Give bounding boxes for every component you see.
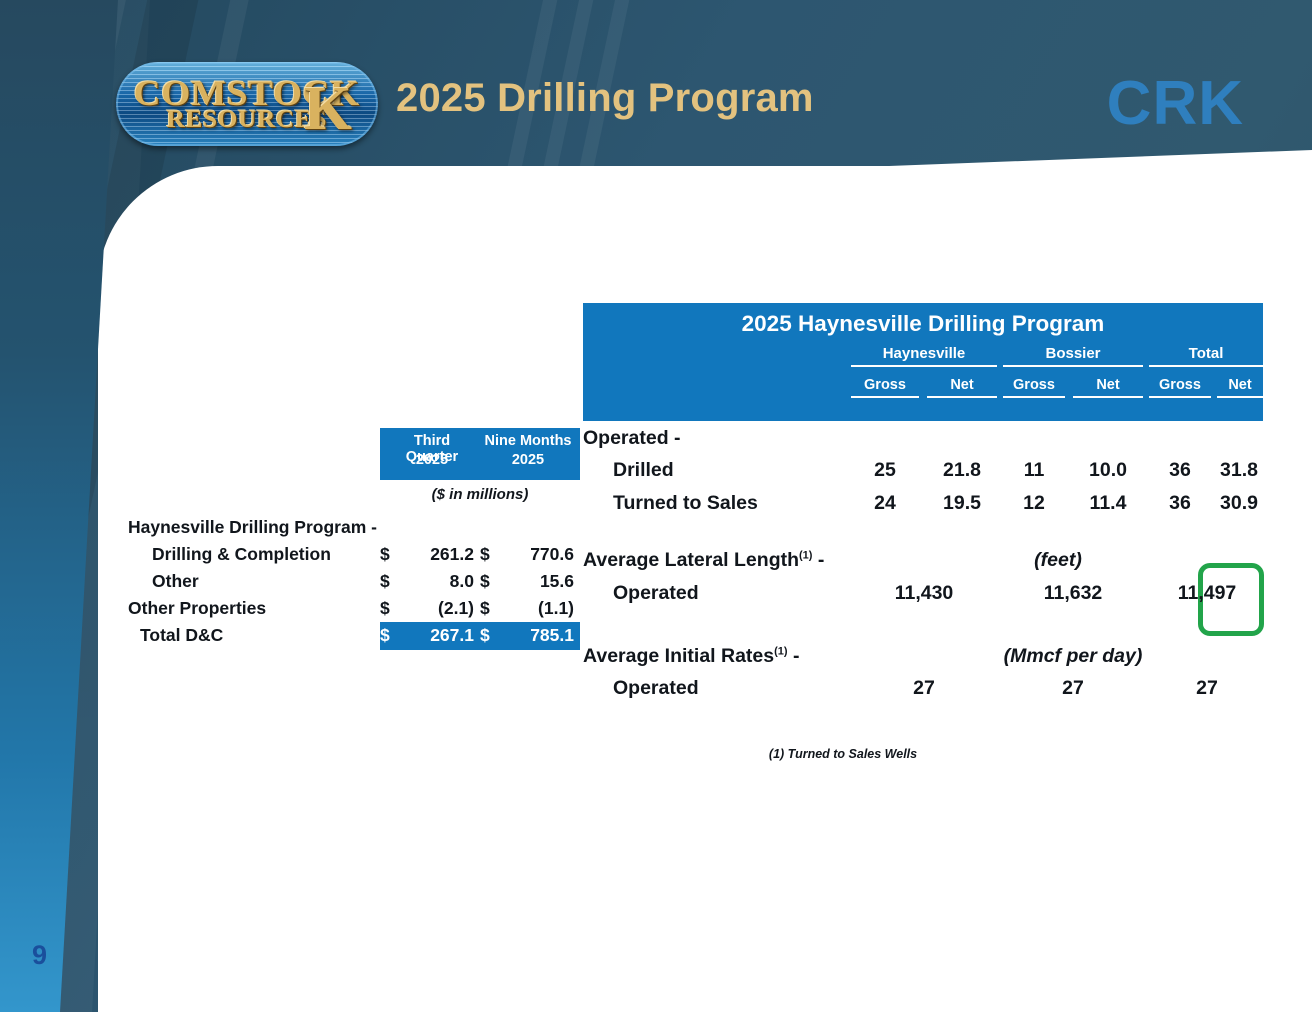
section-lateral-length-text: Average Lateral Length	[583, 549, 799, 571]
drill-col-bossier-gross: Gross	[1003, 377, 1065, 398]
footnote-marker: (1)	[774, 646, 787, 658]
table-row: Turned to Sales 24 19.5 12 11.4 36 30.9	[583, 492, 1263, 524]
table-row-total: Total D&C $ 267.1 $ 785.1	[128, 622, 580, 649]
drill-cell-hay-gross: 25	[851, 459, 919, 482]
lateral-length-haynesville: 11,430	[851, 582, 997, 605]
fin-row-label: Other	[128, 571, 380, 592]
drill-cell-total-net: 31.8	[1213, 459, 1265, 482]
drill-cell-hay-gross: 24	[851, 492, 919, 515]
fin-row-label: Haynesville Drilling Program -	[128, 517, 380, 538]
fin-units-label: ($ in millions)	[380, 486, 580, 503]
fin-table-header-band: Third Quarter Nine Months 2025 2025	[380, 428, 580, 480]
drill-cell-bos-net: 10.0	[1073, 459, 1143, 482]
fin-row-currency: $	[380, 625, 406, 646]
fin-row-ytd: $ 770.6	[480, 544, 580, 565]
drill-group-header-row: Haynesville Bossier Total	[583, 345, 1263, 371]
table-row: Other Properties $ (2.1) $ (1.1)	[128, 595, 580, 622]
fin-row-q3: $ 261.2	[380, 544, 480, 565]
drill-col-haynesville-net: Net	[927, 377, 997, 398]
drill-cell-total-gross: 36	[1149, 492, 1211, 515]
table-row: Haynesville Drilling Program -	[128, 514, 580, 541]
drill-col-total-net: Net	[1217, 377, 1263, 398]
lateral-length-units: (feet)	[973, 549, 1143, 572]
page-title: 2025 Drilling Program	[396, 76, 814, 121]
drill-cell-hay-net: 19.5	[927, 492, 997, 515]
fin-row-ytd: $ 785.1	[480, 625, 580, 646]
initial-rate-bossier: 27	[1003, 677, 1143, 700]
logo-k-letter: K	[304, 78, 352, 140]
drill-row-label: Operated	[613, 582, 699, 605]
fin-row-label: Drilling & Completion	[128, 544, 380, 565]
fin-row-q3: $ 267.1	[380, 625, 480, 646]
table-row: Operated 11,430 11,632 11,497	[583, 582, 1263, 614]
fin-row-q3: $ (2.1)	[380, 598, 480, 619]
drill-cell-bos-net: 11.4	[1073, 492, 1143, 515]
section-lateral-length-suffix: -	[812, 549, 824, 571]
drill-subheader-row: Gross Net Gross Net Gross Net	[583, 377, 1263, 405]
section-operated-title: Operated -	[583, 427, 681, 450]
drill-col-bossier-net: Net	[1073, 377, 1143, 398]
fin-row-currency: $	[380, 598, 406, 619]
fin-row-value: 8.0	[406, 571, 480, 592]
drill-row-label: Drilled	[613, 459, 674, 482]
initial-rates-units: (Mmcf per day)	[953, 645, 1193, 668]
drill-group-total: Total	[1149, 345, 1263, 367]
fin-header-row-2: 2025 2025	[380, 452, 580, 468]
fin-row-label: Total D&C	[128, 625, 380, 646]
drill-row-label: Turned to Sales	[613, 492, 758, 515]
lateral-length-bossier: 11,632	[1003, 582, 1143, 605]
section-lateral-length-title: Average Lateral Length(1) -	[583, 549, 824, 572]
fin-row-value: 261.2	[406, 544, 480, 565]
fin-row-currency: $	[380, 544, 406, 565]
fin-row-value: 267.1	[406, 625, 480, 646]
section-initial-rates-suffix: -	[788, 645, 800, 667]
comstock-logo: COMSTOCK RESOURCES K	[116, 62, 378, 146]
table-footnote: (1) Turned to Sales Wells	[503, 747, 1183, 761]
slide: COMSTOCK RESOURCES K 2025 Drilling Progr…	[0, 0, 1312, 1012]
fin-row-value: (2.1)	[406, 598, 480, 619]
drill-cell-total-gross: 36	[1149, 459, 1211, 482]
drill-group-haynesville: Haynesville	[851, 345, 997, 367]
fin-header-col1-line2: 2025	[386, 452, 478, 468]
fin-row-currency: $	[480, 544, 506, 565]
footnote-marker: (1)	[799, 550, 812, 562]
initial-rate-haynesville: 27	[851, 677, 997, 700]
fin-row-ytd: $ (1.1)	[480, 598, 580, 619]
drill-cell-bos-gross: 12	[1003, 492, 1065, 515]
fin-row-currency: $	[380, 571, 406, 592]
drill-row-label: Operated	[613, 677, 699, 700]
drill-col-total-gross: Gross	[1149, 377, 1211, 398]
fin-row-currency: $	[480, 625, 506, 646]
fin-row-value: 15.6	[506, 571, 580, 592]
table-row: Drilled 25 21.8 11 10.0 36 31.8	[583, 459, 1263, 491]
drill-col-haynesville-gross: Gross	[851, 377, 919, 398]
crk-ticker-logo: CRK	[1107, 68, 1244, 139]
fin-row-value: 770.6	[506, 544, 580, 565]
table-row: Drilling & Completion $ 261.2 $ 770.6	[128, 541, 580, 568]
fin-row-ytd: $ 15.6	[480, 571, 580, 592]
drill-cell-total-net: 30.9	[1213, 492, 1265, 515]
fin-row-label: Other Properties	[128, 598, 380, 619]
drill-cell-bos-gross: 11	[1003, 459, 1065, 482]
section-initial-rates-title: Average Initial Rates(1) -	[583, 645, 799, 668]
fin-row-currency: $	[480, 571, 506, 592]
page-number: 9	[32, 940, 47, 971]
fin-row-q3: $ 8.0	[380, 571, 480, 592]
drill-cell-hay-net: 21.8	[927, 459, 997, 482]
drill-table-header: 2025 Haynesville Drilling Program Haynes…	[583, 303, 1263, 421]
fin-row-value: 785.1	[506, 625, 580, 646]
lateral-length-total: 11,497	[1149, 582, 1265, 605]
fin-row-currency: $	[480, 598, 506, 619]
drill-group-bossier: Bossier	[1003, 345, 1143, 367]
table-row: Operated 27 27 27	[583, 677, 1263, 709]
section-initial-rates-text: Average Initial Rates	[583, 645, 774, 667]
fin-row-value: (1.1)	[506, 598, 580, 619]
fin-header-col2-line2: 2025	[482, 452, 574, 468]
table-row: Other $ 8.0 $ 15.6	[128, 568, 580, 595]
initial-rate-total: 27	[1149, 677, 1265, 700]
fin-rows: Haynesville Drilling Program - Drilling …	[128, 514, 580, 649]
drill-table-title: 2025 Haynesville Drilling Program	[583, 311, 1263, 337]
slide-header: COMSTOCK RESOURCES K 2025 Drilling Progr…	[0, 0, 1312, 170]
